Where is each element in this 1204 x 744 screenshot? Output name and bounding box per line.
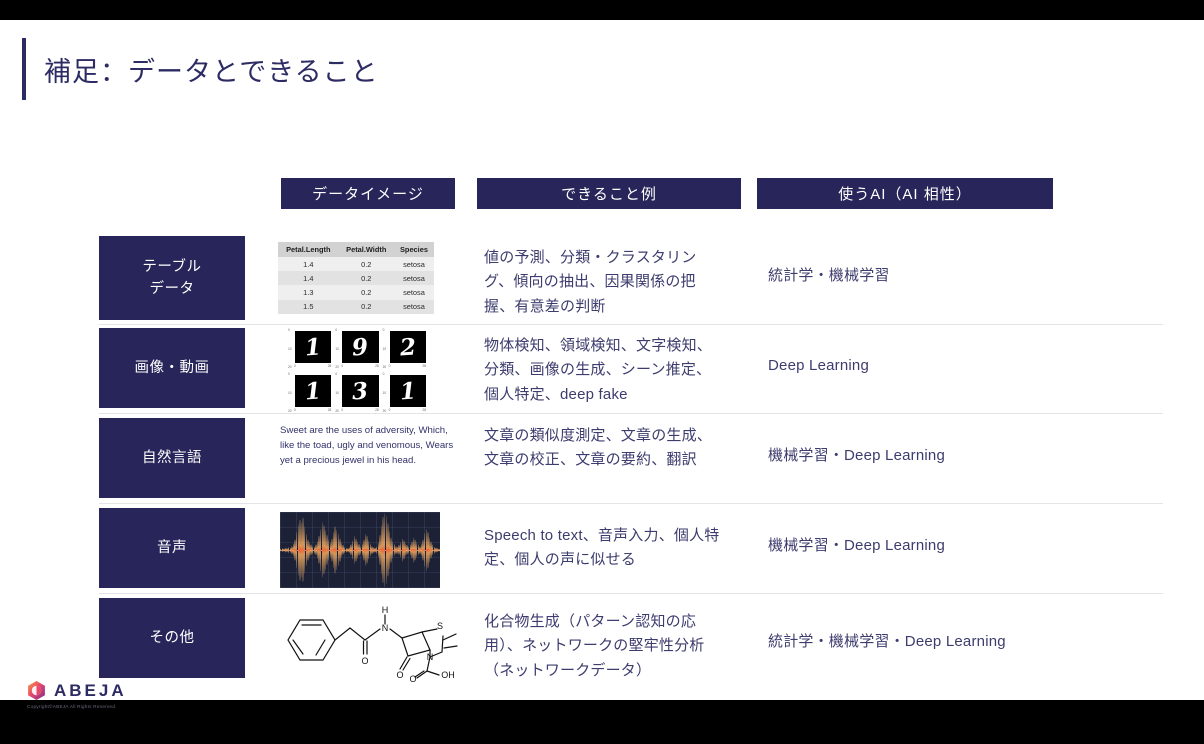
iris-cell: 1.3 <box>278 285 339 299</box>
column-header-data-image: データイメージ <box>281 178 455 209</box>
iris-cell: setosa <box>394 257 434 271</box>
can-do-text-other: 化合物生成（パターン認知の応用）、ネットワークの堅牢性分析（ネットワークデータ） <box>484 610 722 683</box>
iris-cell: 1.4 <box>278 271 339 285</box>
row-label-natural-language: 自然言語 <box>99 418 245 498</box>
table-row: 1.4 0.2 setosa <box>278 271 434 285</box>
atom-label-o-lactam: O <box>396 670 403 680</box>
atom-label-o-acid: O <box>409 674 416 682</box>
row-divider <box>99 593 1163 594</box>
iris-cell: 0.2 <box>339 257 394 271</box>
iris-data-table: Petal.Length Petal.Width Species 1.4 0.2… <box>278 242 434 314</box>
iris-col-petal-width: Petal.Width <box>339 242 394 257</box>
row-divider <box>99 413 1163 414</box>
mnist-cell: 01020 028 1 <box>288 370 333 412</box>
column-header-ai-used: 使うAI（AI 相性） <box>757 178 1053 209</box>
atom-label-h: H <box>382 605 389 615</box>
row-label-other: その他 <box>99 598 245 678</box>
iris-cell: setosa <box>394 285 434 299</box>
atom-label-n-ring: N <box>427 652 434 662</box>
row-label-line-2: データ <box>149 281 194 297</box>
mnist-digit: 3 <box>352 379 370 403</box>
slide-frame: 補足：データとできること データイメージ できること例 使うAI（AI 相性） … <box>0 0 1204 744</box>
atom-label-oh: OH <box>441 670 455 680</box>
iris-cell: 1.4 <box>278 257 339 271</box>
can-do-text-image-video: 物体検知、領域検知、文字検知、分類、画像の生成、シーン推定、個人特定、deep … <box>484 334 722 407</box>
table-row: 1.5 0.2 setosa <box>278 300 434 314</box>
mnist-digit-grid: 01020 028 1 01020 028 9 01020 028 2 0102… <box>288 326 428 412</box>
text-sample-block: Sweet are the uses of adversity, Which, … <box>280 423 460 468</box>
iris-cell: 1.5 <box>278 300 339 314</box>
ai-used-text-image-video: Deep Learning <box>768 354 1068 378</box>
mnist-digit: 1 <box>399 379 417 403</box>
mnist-digit: 1 <box>304 379 322 403</box>
iris-cell: 0.2 <box>339 285 394 299</box>
row-label-image-video: 画像・動画 <box>99 328 245 408</box>
chemical-structure: H N O O S N O OH <box>276 596 462 682</box>
page-title: 補足：データとできること <box>44 50 379 89</box>
iris-cell: setosa <box>394 300 434 314</box>
ai-used-text-audio: 機械学習・Deep Learning <box>768 534 1068 558</box>
mnist-cell: 01020 028 3 <box>335 370 380 412</box>
iris-col-petal-length: Petal.Length <box>278 242 339 257</box>
table-row: 1.4 0.2 setosa <box>278 257 434 271</box>
mnist-digit: 9 <box>352 335 370 359</box>
mnist-digit: 2 <box>399 335 417 359</box>
abeja-hexagon-icon <box>26 680 47 701</box>
mnist-cell: 01020 028 1 <box>383 370 428 412</box>
slide-canvas: 補足：データとできること データイメージ できること例 使うAI（AI 相性） … <box>0 20 1204 700</box>
atom-label-n-amide: N <box>382 623 389 633</box>
atom-label-s: S <box>437 621 443 631</box>
copyright-text: Copyright©ABEJA All Rights Reserved. <box>27 704 117 710</box>
table-row: 1.3 0.2 setosa <box>278 285 434 299</box>
atom-label-o-amide: O <box>361 656 368 666</box>
row-label-audio: 音声 <box>99 508 245 588</box>
ai-used-text-table-data: 統計学・機械学習 <box>768 264 1068 288</box>
mnist-cell: 01020 028 2 <box>383 326 428 368</box>
mnist-digit: 1 <box>304 335 322 359</box>
audio-waveform <box>280 512 440 588</box>
brand-name: ABEJA <box>54 681 127 701</box>
ai-used-text-other: 統計学・機械学習・Deep Learning <box>768 630 1068 654</box>
mnist-cell: 01020 028 9 <box>335 326 380 368</box>
can-do-text-table-data: 値の予測、分類・クラスタリング、傾向の抽出、因果関係の把握、有意差の判断 <box>484 246 722 319</box>
mnist-cell: 01020 028 1 <box>288 326 333 368</box>
iris-cell: setosa <box>394 271 434 285</box>
title-accent-bar <box>22 38 26 100</box>
can-do-text-audio: Speech to text、音声入力、個人特定、個人の声に似せる <box>484 524 722 573</box>
row-divider <box>99 324 1163 325</box>
iris-table-header-row: Petal.Length Petal.Width Species <box>278 242 434 257</box>
slide-title: 補足：データとできること <box>22 38 379 100</box>
iris-cell: 0.2 <box>339 271 394 285</box>
ai-used-text-natural-language: 機械学習・Deep Learning <box>768 444 1068 468</box>
can-do-text-natural-language: 文章の類似度測定、文章の生成、文章の校正、文章の要約、翻訳 <box>484 424 722 473</box>
iris-col-species: Species <box>394 242 434 257</box>
row-divider <box>99 503 1163 504</box>
column-header-can-do: できること例 <box>477 178 741 209</box>
footer-logo: ABEJA <box>26 680 127 701</box>
row-label-table-data: テーブル データ <box>99 236 245 320</box>
row-label-line-1: テーブル <box>142 259 201 275</box>
iris-cell: 0.2 <box>339 300 394 314</box>
penicillin-skeletal-diagram: H N O O S N O OH <box>276 596 462 682</box>
